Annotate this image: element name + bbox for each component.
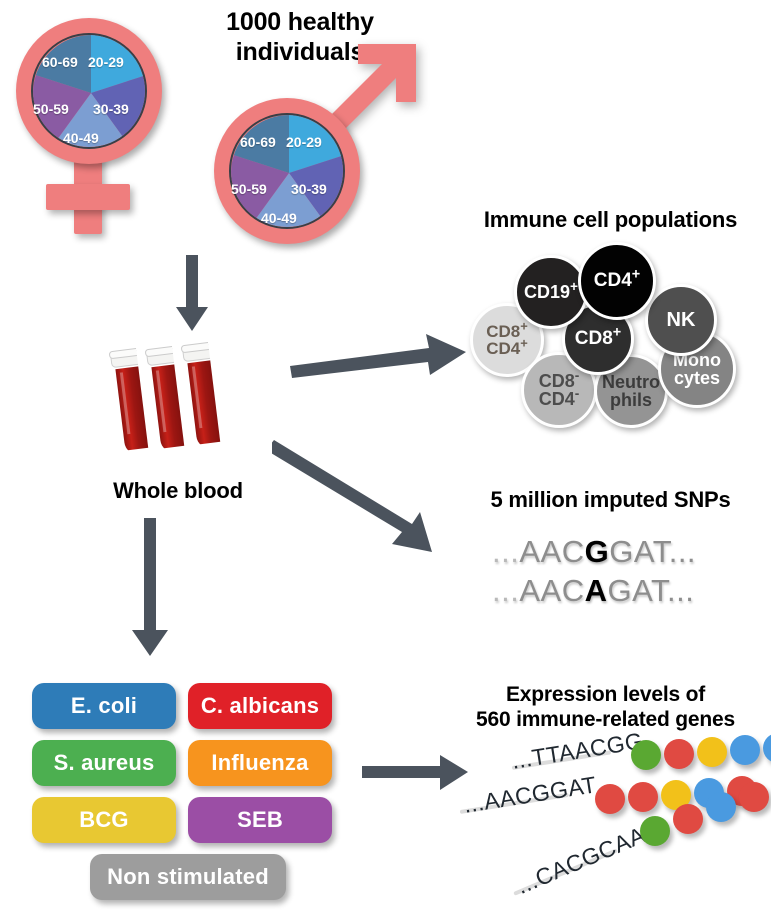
- dna-ball: [730, 735, 760, 765]
- arrow-blood-to-snps: [272, 440, 457, 560]
- dna-strand-2: ...AACGGAT: [468, 788, 748, 838]
- immune-cell-cd19p-label: CD19+: [524, 283, 578, 301]
- dna-ball: [739, 782, 769, 812]
- dna-ball: [628, 782, 658, 812]
- male-age-label-20-29: 20-29: [286, 134, 322, 150]
- dna-ball: [706, 792, 736, 822]
- immune-cell-cd8n-cd4n: CD8- CD4-: [521, 352, 597, 428]
- blood-tube: [142, 343, 184, 450]
- arrow-cohort-to-blood: [172, 255, 212, 333]
- dna-ball: [697, 737, 727, 767]
- immune-cell-cd4p: CD4+: [578, 242, 656, 320]
- immune-cell-cd8n-cd4n-line2: CD4-: [539, 390, 580, 408]
- figure-canvas: 1000 healthy individuals 20-29 30-39 40-…: [0, 0, 771, 922]
- immune-cell-neutrophils: Neutro phils: [594, 354, 668, 428]
- dna-ball: [673, 804, 703, 834]
- stimulus-pill-e-coli[interactable]: E. coli: [32, 683, 176, 729]
- female-age-label-50-59: 50-59: [33, 101, 69, 117]
- snp-row2-prefix-dots: ...: [492, 573, 519, 608]
- male-age-label-40-49: 40-49: [261, 210, 297, 226]
- cohort-title-line1: 1000 healthy: [180, 8, 420, 38]
- blood-tube: [178, 339, 220, 446]
- snp-row2-prefix: AAC: [519, 573, 584, 608]
- arrow-blood-to-immune-cells: [290, 330, 470, 380]
- immune-cell-monocytes-line2: cytes: [674, 369, 720, 387]
- immune-cell-nk: NK: [645, 284, 717, 356]
- blood-tube: [106, 345, 148, 452]
- immune-cell-nk-label: NK: [667, 310, 696, 330]
- immune-cell-cd8p-cd4p-line1: CD8+: [486, 323, 528, 340]
- immune-cell-cd19p: CD19+: [514, 255, 588, 329]
- snp-row1-prefix: AAC: [519, 534, 584, 569]
- female-symbol-crossbar: [46, 184, 130, 210]
- dna-ball: [664, 739, 694, 769]
- immune-title: Immune cell populations: [450, 207, 771, 233]
- dna-strand-3: ...CACGCAA: [520, 872, 771, 922]
- stimulus-pill-c-albicans[interactable]: C. albicans: [188, 683, 332, 729]
- female-age-label-40-49: 40-49: [63, 130, 99, 146]
- dna-strand-1-sequence: ...TTAACGG: [510, 727, 645, 774]
- male-age-label-30-39: 30-39: [291, 181, 327, 197]
- snp-row2-suffix: GAT...: [607, 573, 694, 608]
- immune-cell-cd8p: CD8+: [562, 303, 634, 375]
- immune-cell-cd4p-label: CD4+: [594, 271, 640, 290]
- immune-cell-neutrophils-line2: phils: [610, 391, 652, 409]
- arrow-stimuli-to-expression: [362, 753, 472, 795]
- snps-title: 5 million imputed SNPs: [450, 487, 771, 513]
- male-age-label-50-59: 50-59: [231, 181, 267, 197]
- stimulus-pill-seb[interactable]: SEB: [188, 797, 332, 843]
- stimulus-pill-bcg[interactable]: BCG: [32, 797, 176, 843]
- immune-cell-cd8n-cd4n-line1: CD8-: [539, 372, 580, 390]
- dna-ball: [640, 816, 670, 846]
- snp-sequence-row-1: ...AACGGAT...: [492, 534, 696, 570]
- whole-blood-label: Whole blood: [78, 478, 278, 504]
- immune-cell-monocytes: Mono cytes: [658, 330, 736, 408]
- immune-cell-monocytes-line1: Mono: [673, 351, 721, 369]
- immune-cell-cd8p-cd4p-line2: CD4+: [486, 340, 528, 357]
- female-age-label-60-69: 60-69: [42, 54, 78, 70]
- female-gender-symbol: 20-29 30-39 40-49 50-59 60-69: [8, 12, 188, 232]
- snp-row1-suffix: GAT...: [609, 534, 696, 569]
- male-age-label-60-69: 60-69: [240, 134, 276, 150]
- immune-cell-cd8p-label: CD8+: [575, 329, 621, 348]
- female-age-label-20-29: 20-29: [88, 54, 124, 70]
- arrow-blood-to-stimuli: [130, 518, 174, 658]
- snp-row1-prefix-dots: ...: [492, 534, 519, 569]
- blood-tubes-group: [112, 338, 242, 456]
- immune-cell-cd8p-cd4p: CD8+ CD4+: [470, 303, 544, 377]
- expression-title-line2: 560 immune-related genes: [440, 708, 771, 733]
- expression-title: Expression levels of 560 immune-related …: [440, 683, 771, 733]
- female-age-label-30-39: 30-39: [93, 101, 129, 117]
- expression-title-line1: Expression levels of: [440, 683, 771, 708]
- stimulus-pill-influenza[interactable]: Influenza: [188, 740, 332, 786]
- snp-row2-variant: A: [585, 573, 608, 608]
- stimulus-pill-non-stimulated[interactable]: Non stimulated: [90, 854, 286, 900]
- stimulus-pill-s-aureus[interactable]: S. aureus: [32, 740, 176, 786]
- male-gender-symbol: 20-29 30-39 40-49 50-59 60-69: [208, 36, 428, 246]
- dna-ball: [595, 784, 625, 814]
- immune-cell-neutrophils-line1: Neutro: [602, 373, 660, 391]
- dna-ball: [631, 740, 661, 770]
- snp-sequence-row-2: ...AACAGAT...: [492, 573, 694, 609]
- snp-row1-variant: G: [585, 534, 610, 569]
- dna-ball: [763, 733, 771, 763]
